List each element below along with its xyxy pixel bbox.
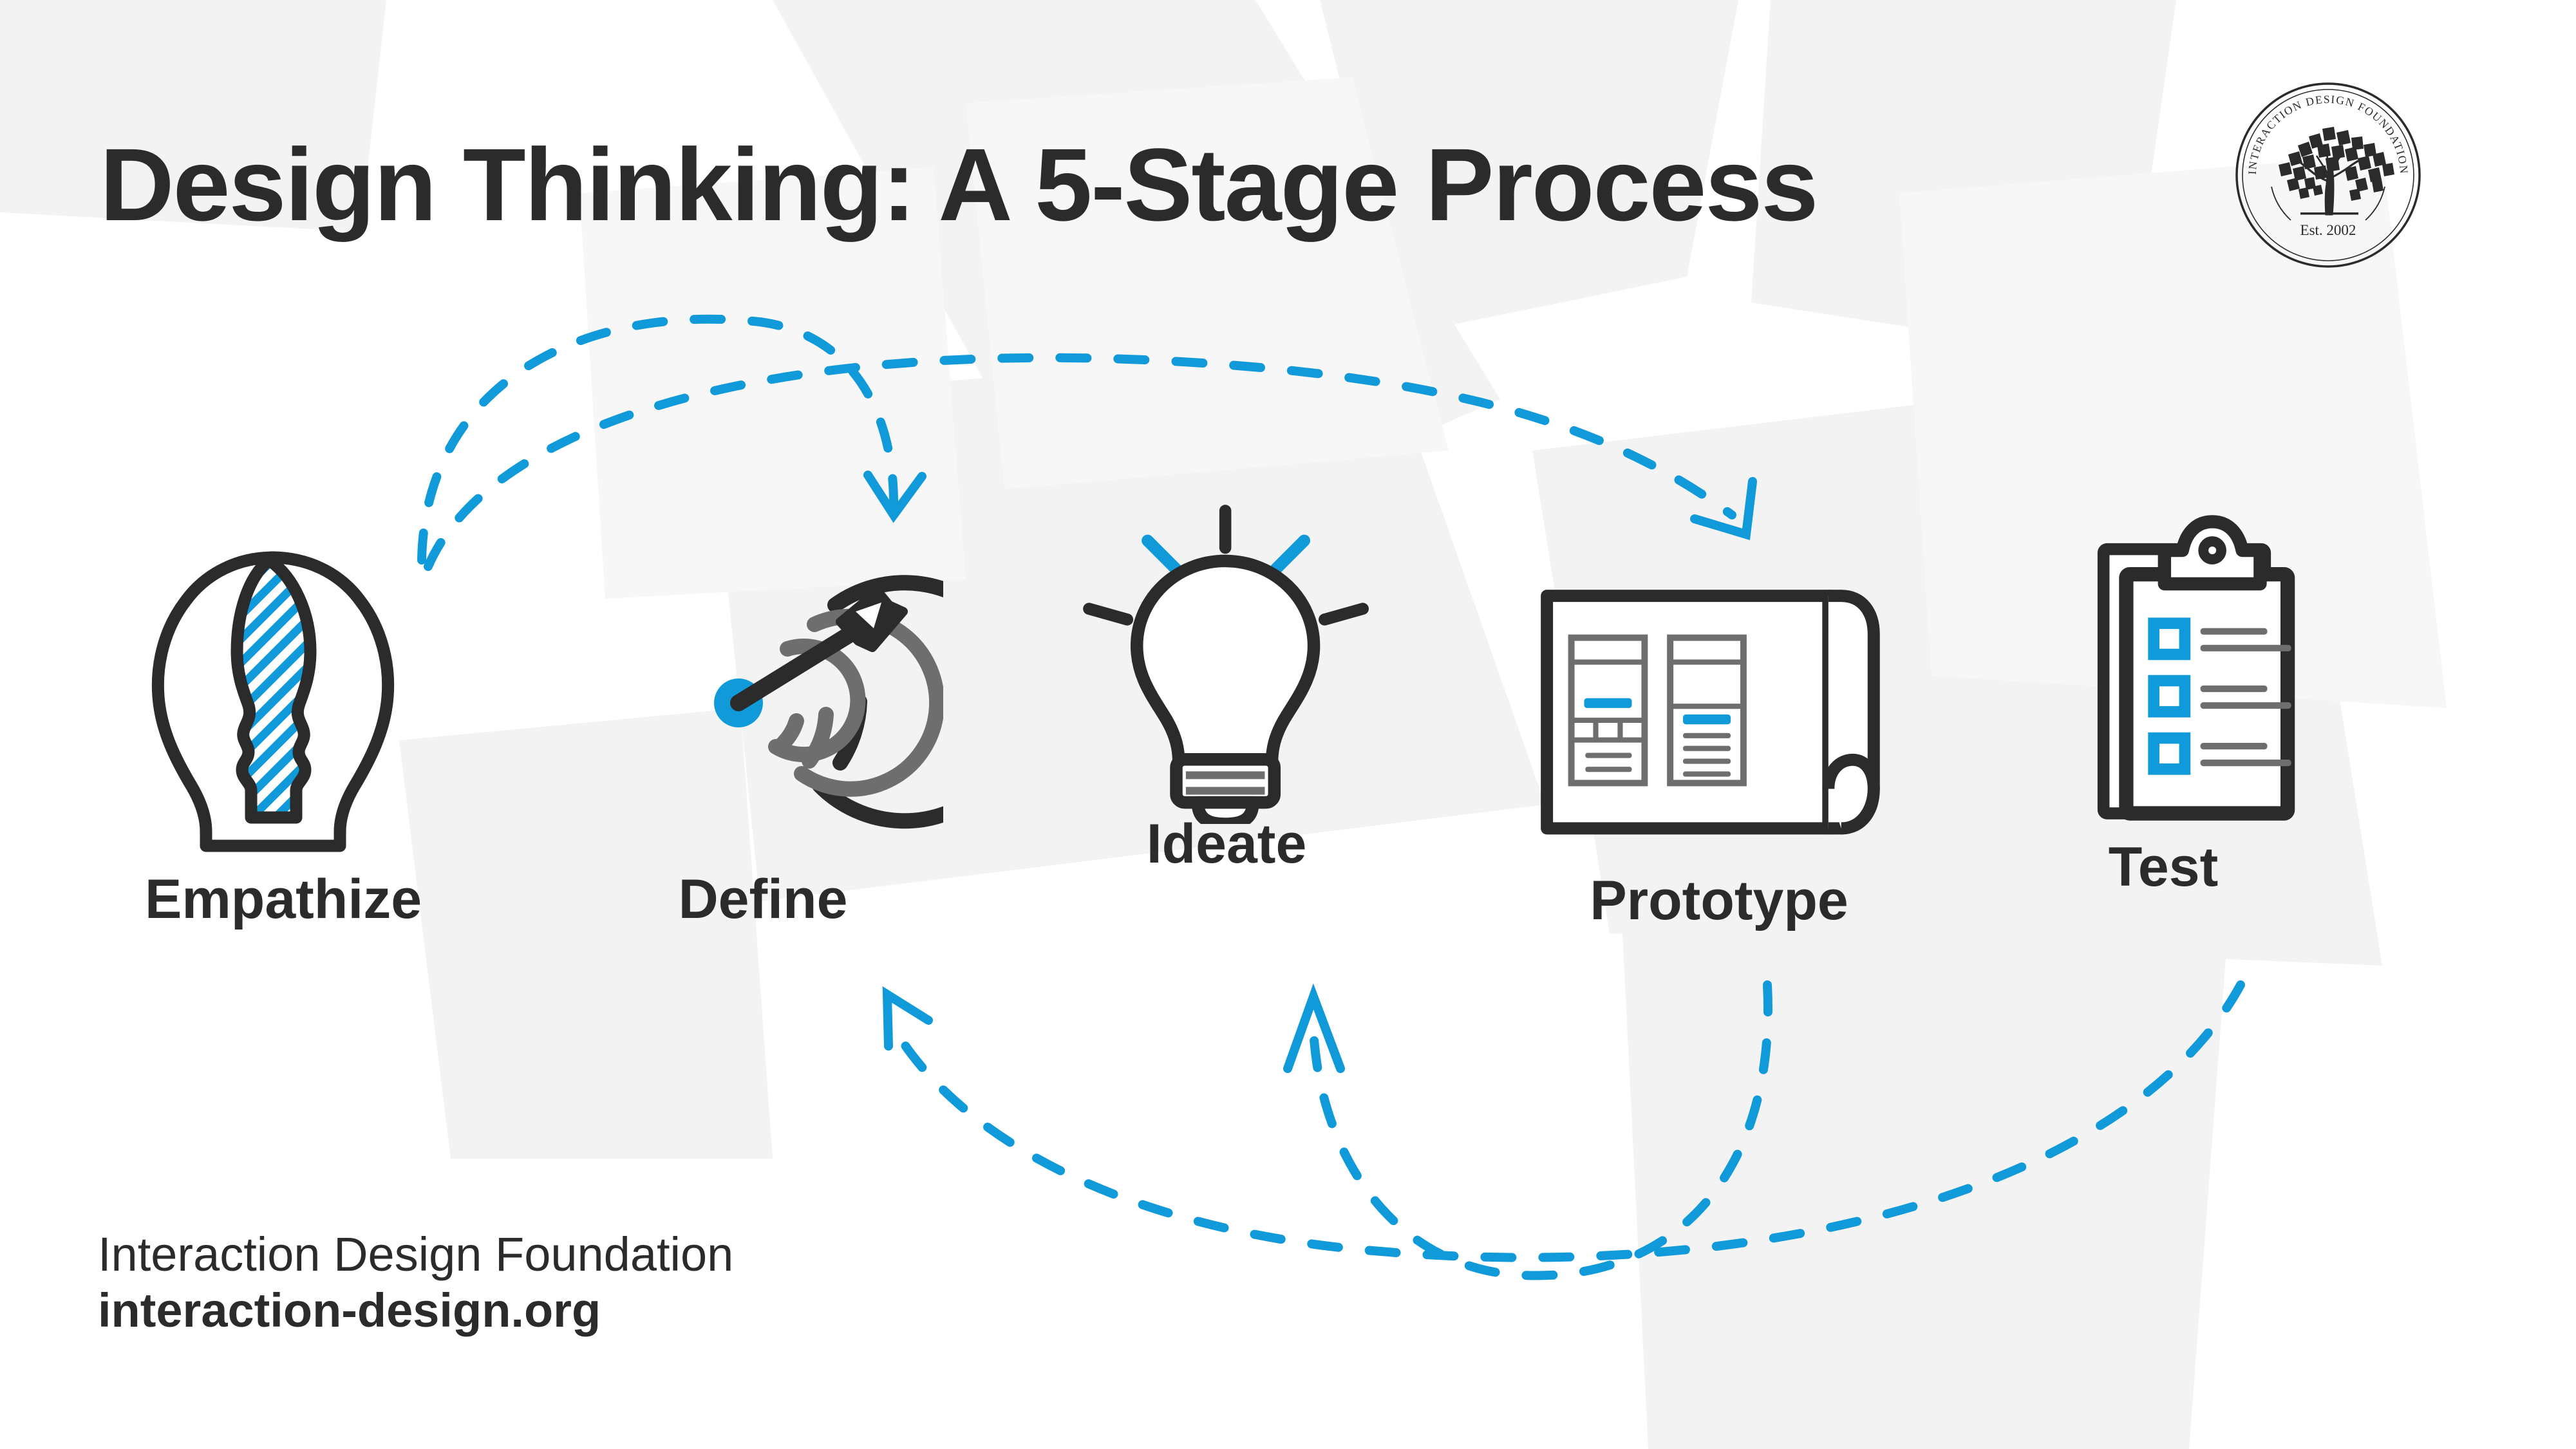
stage-empathize[interactable]: Empathize: [103, 534, 464, 927]
ray-upper-left-icon: [1147, 541, 1176, 570]
ray-left-icon: [1089, 609, 1127, 620]
wireframe-panel-right: [1670, 638, 1744, 783]
bulb-base-thread-2: [1186, 787, 1265, 794]
footer-organization: Interaction Design Foundation: [98, 1226, 733, 1282]
wireframe-panel-left: [1572, 638, 1645, 783]
bulb-base-thread-1: [1186, 771, 1265, 779]
footer-url[interactable]: interaction-design.org: [98, 1282, 733, 1338]
bulb-glass: [1137, 561, 1314, 762]
ray-upper-right-icon: [1275, 541, 1304, 570]
stage-test[interactable]: Test: [1983, 509, 2344, 895]
stage-label-define: Define: [583, 872, 943, 927]
checkbox-1[interactable]: [2154, 623, 2185, 654]
stage-label-test: Test: [1983, 839, 2344, 895]
checkbox-3[interactable]: [2154, 738, 2185, 769]
target-ring-inner-right: [784, 721, 796, 743]
infographic-poster: Design Thinking: A 5-Stage Process INTER…: [0, 0, 2576, 1449]
stage-label-prototype: Prototype: [1539, 873, 1899, 928]
arrow-empathize-to-define: [422, 319, 922, 560]
lightbulb-icon: [1046, 489, 1407, 824]
arrow-test-to-define: [887, 985, 2241, 1258]
footer: Interaction Design Foundation interactio…: [98, 1226, 733, 1339]
ray-right-icon: [1324, 609, 1362, 620]
stage-define[interactable]: Define: [583, 534, 943, 927]
head-overlap-fill: [219, 547, 328, 824]
stage-prototype[interactable]: Prototype: [1539, 534, 1899, 928]
stage-label-empathize: Empathize: [103, 872, 464, 927]
target-arrow-icon: [583, 534, 943, 869]
stage-ideate[interactable]: Ideate: [1046, 489, 1407, 872]
clipboard-clip-hole: [2203, 541, 2221, 559]
arrow-prototype-to-ideate: [1288, 985, 1768, 1276]
stage-label-ideate: Ideate: [1046, 816, 1407, 872]
bulb-base: [1176, 760, 1274, 803]
checkbox-2[interactable]: [2154, 680, 2185, 711]
blueprint-icon: [1539, 534, 1899, 869]
two-heads-icon: [103, 534, 464, 869]
clipboard-checklist-icon: [1983, 509, 2344, 843]
